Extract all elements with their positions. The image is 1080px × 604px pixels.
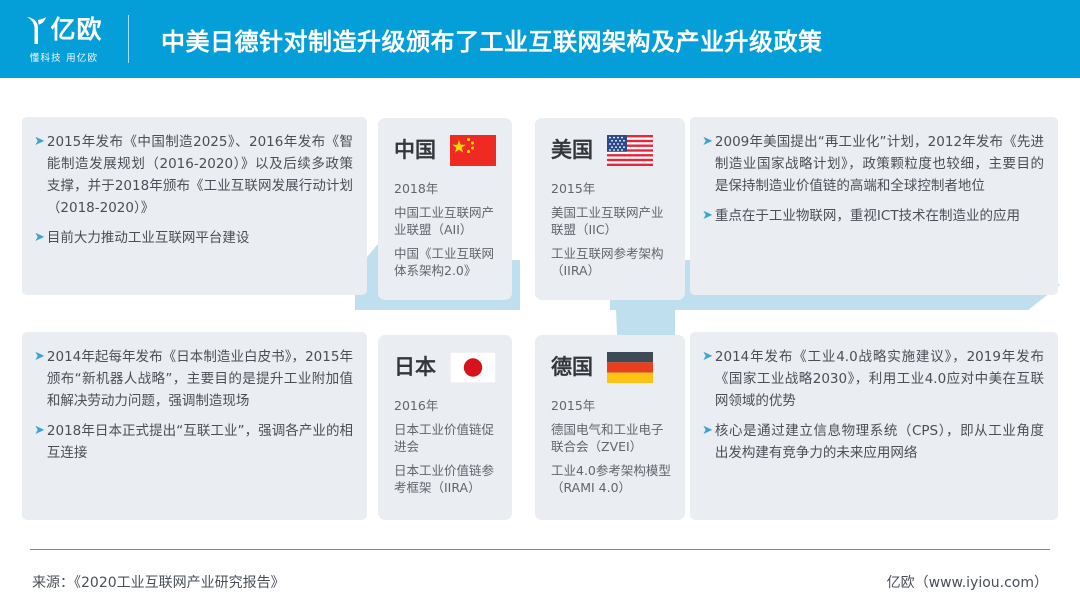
card-header: 中国 bbox=[394, 132, 498, 168]
card-body: 2015年 美国工业互联网产业联盟（IIC） 工业互联网参考架构（IIRA） bbox=[551, 180, 671, 279]
card-header: 美国 bbox=[551, 132, 671, 168]
brand-logo: 亿欧 懂科技 用亿欧 bbox=[0, 0, 128, 78]
page-title: 中美日德针对制造升级颁布了工业互联网架构及产业升级政策 bbox=[161, 22, 823, 57]
card-framework: 工业互联网参考架构（IIRA） bbox=[551, 245, 671, 279]
bullet-text: 2018年日本正式提出“互联工业”，强调各产业的相互连接 bbox=[47, 420, 353, 464]
arrow-bullet-icon: ➤ bbox=[34, 131, 45, 153]
card-organization: 日本工业价值链促进会 bbox=[394, 421, 498, 455]
arrow-bullet-icon: ➤ bbox=[34, 227, 45, 249]
country-name: 日本 bbox=[394, 357, 436, 378]
card-header: 日本 bbox=[394, 349, 498, 385]
main-canvas: ➤ 2015年发布《中国制造2025》、2016年发布《智能制造发展规划（201… bbox=[0, 78, 1080, 544]
header-divider bbox=[128, 15, 129, 63]
bullet-item: ➤ 核心是通过建立信息物理系统（CPS），即从工业角度出发构建有竞争力的未来应用… bbox=[702, 420, 1044, 464]
card-organization: 中国工业互联网产业联盟（AII） bbox=[394, 204, 498, 238]
card-organization: 德国电气和工业电子联合会（ZVEI） bbox=[551, 421, 671, 455]
bullet-item: ➤ 2014年发布《工业4.0战略实施建议》，2019年发布《国家工业战略203… bbox=[702, 346, 1044, 412]
card-body: 2016年 日本工业价值链促进会 日本工业价值链参考框架（IIRA） bbox=[394, 397, 498, 496]
country-card-germany: 德国 2015年 德国电气和工业电子联合会（ZVEI） 工业4.0参考架构模型（… bbox=[535, 335, 685, 520]
card-framework: 工业4.0参考架构模型（RAMI 4.0） bbox=[551, 462, 671, 496]
logo-mark: 亿欧 bbox=[25, 15, 102, 45]
flag-japan-icon bbox=[450, 352, 496, 383]
bullet-text: 2015年发布《中国制造2025》、2016年发布《智能制造发展规划（2016-… bbox=[47, 131, 353, 219]
logo-tagline: 懂科技 用亿欧 bbox=[30, 50, 98, 64]
bullet-text: 2009年美国提出“再工业化”计划，2012年发布《先进制造业国家战略计划》，政… bbox=[715, 131, 1044, 197]
card-header: 德国 bbox=[551, 349, 671, 385]
card-year: 2015年 bbox=[551, 397, 671, 414]
policy-panel-japan: ➤ 2014年起每年发布《日本制造业白皮书》，2015年颁布“新机器人战略”，主… bbox=[22, 332, 367, 520]
bullet-text: 2014年发布《工业4.0战略实施建议》，2019年发布《国家工业战略2030》… bbox=[715, 346, 1044, 412]
flag-germany-icon bbox=[607, 352, 653, 383]
policy-panel-germany: ➤ 2014年发布《工业4.0战略实施建议》，2019年发布《国家工业战略203… bbox=[690, 332, 1058, 520]
bullet-item: ➤ 2018年日本正式提出“互联工业”，强调各产业的相互连接 bbox=[34, 420, 353, 464]
arrow-bullet-icon: ➤ bbox=[34, 346, 45, 368]
bullet-item: ➤ 2015年发布《中国制造2025》、2016年发布《智能制造发展规划（201… bbox=[34, 131, 353, 219]
card-body: 2015年 德国电气和工业电子联合会（ZVEI） 工业4.0参考架构模型（RAM… bbox=[551, 397, 671, 496]
country-name: 美国 bbox=[551, 140, 593, 161]
page-footer: 来源：《2020工业互联网产业研究报告》 亿欧（www.iyiou.com） bbox=[0, 560, 1080, 604]
arrow-bullet-icon: ➤ bbox=[702, 420, 713, 442]
bullet-text: 重点在于工业物联网，重视ICT技术在制造业的应用 bbox=[715, 205, 1020, 227]
logo-wordmark: 亿欧 bbox=[50, 17, 102, 42]
arrow-bullet-icon: ➤ bbox=[702, 346, 713, 368]
bullet-item: ➤ 2009年美国提出“再工业化”计划，2012年发布《先进制造业国家战略计划》… bbox=[702, 131, 1044, 197]
card-framework: 中国《工业互联网体系架构2.0》 bbox=[394, 245, 498, 279]
flag-china-icon bbox=[450, 135, 496, 166]
bullet-text: 2014年起每年发布《日本制造业白皮书》，2015年颁布“新机器人战略”，主要目… bbox=[47, 346, 353, 412]
country-name: 中国 bbox=[394, 140, 436, 161]
policy-panel-china: ➤ 2015年发布《中国制造2025》、2016年发布《智能制造发展规划（201… bbox=[22, 117, 367, 295]
brand-label: 亿欧（www.iyiou.com） bbox=[887, 572, 1048, 592]
arrow-bullet-icon: ➤ bbox=[34, 420, 45, 442]
country-card-china: 中国 2018年 中国工业互联网产业联盟（AII） 中国《工业互联网体系架构2.… bbox=[378, 118, 512, 300]
card-year: 2015年 bbox=[551, 180, 671, 197]
card-year: 2016年 bbox=[394, 397, 498, 414]
card-framework: 日本工业价值链参考框架（IIRA） bbox=[394, 462, 498, 496]
policy-panel-usa: ➤ 2009年美国提出“再工业化”计划，2012年发布《先进制造业国家战略计划》… bbox=[690, 117, 1058, 295]
card-body: 2018年 中国工业互联网产业联盟（AII） 中国《工业互联网体系架构2.0》 bbox=[394, 180, 498, 279]
footer-divider bbox=[30, 549, 1050, 550]
bullet-item: ➤ 目前大力推动工业互联网平台建设 bbox=[34, 227, 353, 249]
logo-sprout-icon bbox=[25, 15, 47, 45]
country-card-usa: 美国 bbox=[535, 118, 685, 300]
country-name: 德国 bbox=[551, 357, 593, 378]
flag-usa-icon bbox=[607, 135, 653, 166]
bullet-text: 目前大力推动工业互联网平台建设 bbox=[47, 227, 250, 249]
page-header: 亿欧 懂科技 用亿欧 中美日德针对制造升级颁布了工业互联网架构及产业升级政策 bbox=[0, 0, 1080, 78]
bullet-text: 核心是通过建立信息物理系统（CPS），即从工业角度出发构建有竞争力的未来应用网络 bbox=[715, 420, 1044, 464]
bullet-item: ➤ 重点在于工业物联网，重视ICT技术在制造业的应用 bbox=[702, 205, 1044, 227]
source-label: 来源：《2020工业互联网产业研究报告》 bbox=[32, 572, 285, 592]
country-card-japan: 日本 2016年 日本工业价值链促进会 日本工业价值链参考框架（IIRA） bbox=[378, 335, 512, 520]
card-year: 2018年 bbox=[394, 180, 498, 197]
bullet-item: ➤ 2014年起每年发布《日本制造业白皮书》，2015年颁布“新机器人战略”，主… bbox=[34, 346, 353, 412]
arrow-bullet-icon: ➤ bbox=[702, 205, 713, 227]
arrow-bullet-icon: ➤ bbox=[702, 131, 713, 153]
card-organization: 美国工业互联网产业联盟（IIC） bbox=[551, 204, 671, 238]
